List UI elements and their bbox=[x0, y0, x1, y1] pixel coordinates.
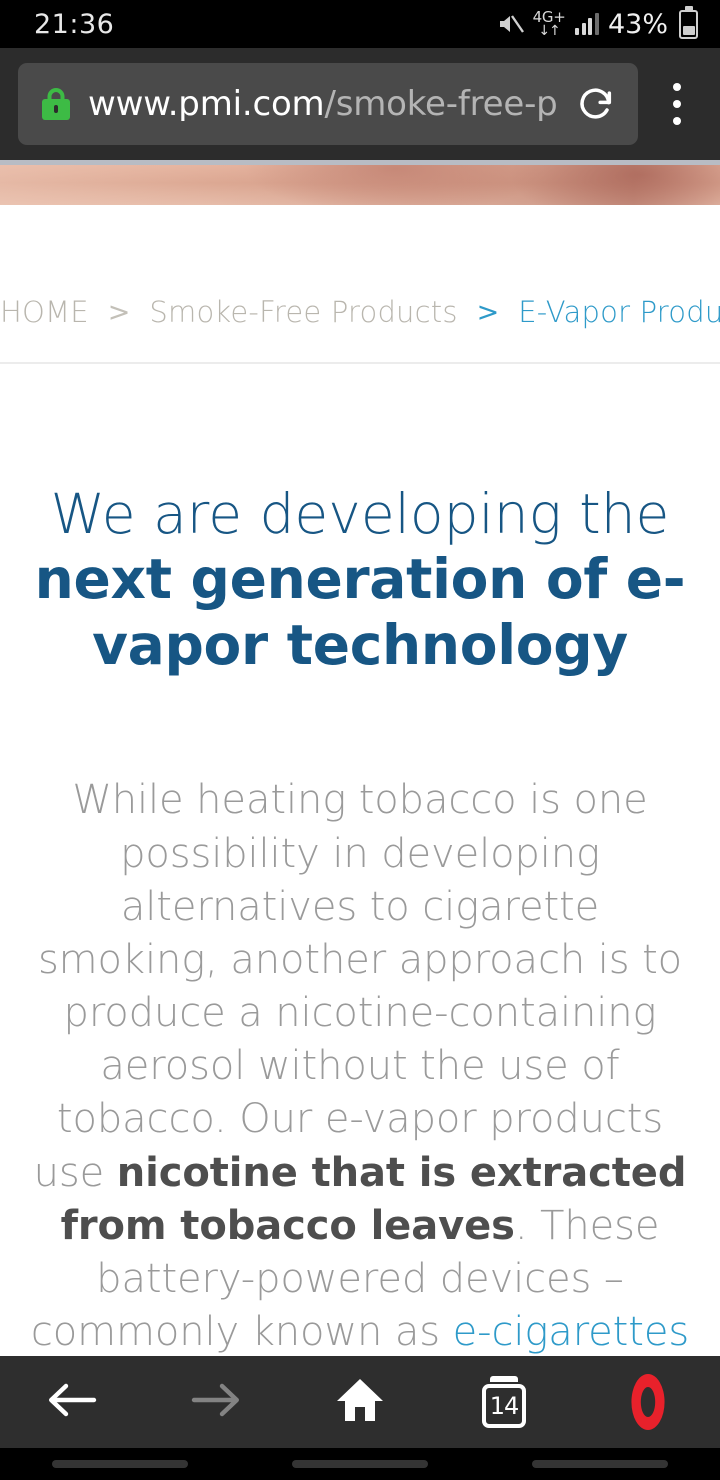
home-button[interactable] bbox=[305, 1356, 415, 1448]
speaker-muted-icon bbox=[498, 13, 524, 35]
home-icon bbox=[333, 1375, 387, 1429]
page-title-line-2: next generation of e-vapor technology bbox=[16, 547, 704, 678]
address-bar[interactable]: www.pmi.com/smoke-free-p bbox=[18, 63, 638, 145]
overflow-menu-icon[interactable] bbox=[642, 63, 712, 145]
page-title: We are developing the next generation of… bbox=[0, 364, 720, 678]
url-path: /smoke-free-p bbox=[324, 87, 556, 121]
status-indicators: 4G+ ↓↑ 43% bbox=[498, 9, 698, 40]
arrow-right-icon bbox=[188, 1376, 244, 1428]
gesture-pill-center[interactable] bbox=[292, 1460, 428, 1468]
url-domain: www.pmi.com bbox=[88, 87, 324, 121]
tab-counter-icon: 14 bbox=[480, 1376, 528, 1428]
opera-menu-button[interactable] bbox=[593, 1356, 703, 1448]
e-cigarettes-link[interactable]: e-cigarettes bbox=[453, 1309, 689, 1355]
signal-bars-icon bbox=[575, 13, 599, 35]
secure-lock-icon bbox=[42, 88, 70, 120]
body-paragraph: While heating tobacco is one possibility… bbox=[0, 678, 720, 1356]
arrow-left-icon bbox=[44, 1376, 100, 1428]
webpage-viewport[interactable]: HOME > Smoke-Free Products > E-Vapor Pro… bbox=[0, 160, 720, 1356]
status-clock: 21:36 bbox=[34, 9, 114, 40]
android-gesture-bar bbox=[0, 1448, 720, 1480]
network-type-indicator: 4G+ ↓↑ bbox=[533, 10, 566, 38]
network-traffic-arrows: ↓↑ bbox=[538, 24, 559, 38]
tab-count-label: 14 bbox=[482, 1384, 526, 1428]
paragraph-text-part-1: While heating tobacco is one possibility… bbox=[34, 777, 682, 1195]
breadcrumb-item-smoke-free-products[interactable]: Smoke-Free Products bbox=[149, 295, 457, 329]
breadcrumb: HOME > Smoke-Free Products > E-Vapor Pro… bbox=[0, 262, 720, 364]
battery-icon bbox=[679, 10, 698, 39]
breadcrumb-item-e-vapor-products[interactable]: E-Vapor Products bbox=[518, 295, 720, 329]
browser-toolbar: www.pmi.com/smoke-free-p bbox=[0, 48, 720, 160]
hero-image-bottom-strip bbox=[0, 165, 720, 205]
tab-switcher-button[interactable]: 14 bbox=[449, 1356, 559, 1448]
page-title-line-1: We are developing the bbox=[16, 482, 704, 547]
breadcrumb-item-home[interactable]: HOME bbox=[0, 295, 89, 329]
browser-bottom-navigation: 14 bbox=[0, 1356, 720, 1448]
breadcrumb-separator: > bbox=[458, 297, 519, 328]
back-button[interactable] bbox=[17, 1356, 127, 1448]
reload-icon[interactable] bbox=[574, 82, 618, 126]
gesture-pill-left[interactable] bbox=[52, 1460, 188, 1468]
gesture-pill-right[interactable] bbox=[532, 1460, 668, 1468]
url-text[interactable]: www.pmi.com/smoke-free-p bbox=[88, 87, 556, 121]
battery-percent-label: 43% bbox=[608, 9, 668, 40]
breadcrumb-separator: > bbox=[89, 297, 150, 328]
status-bar: 21:36 4G+ ↓↑ 43% bbox=[0, 0, 720, 48]
opera-logo-icon bbox=[631, 1374, 664, 1430]
forward-button[interactable] bbox=[161, 1356, 271, 1448]
